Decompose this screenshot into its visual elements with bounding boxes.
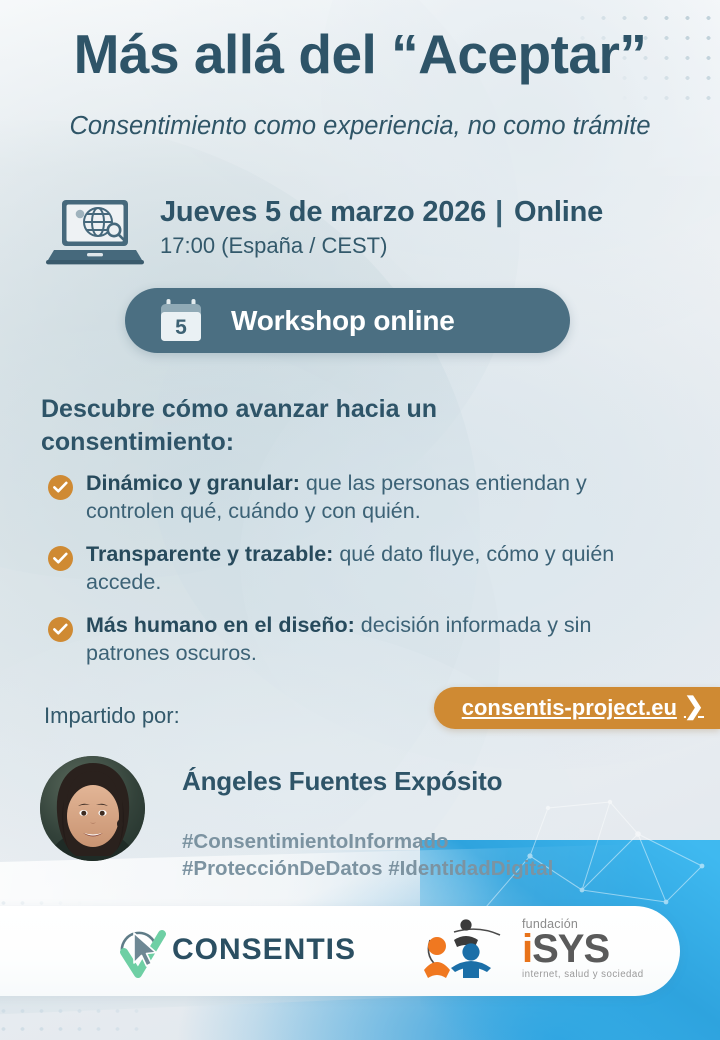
page-title: Más allá del “Aceptar” [0,22,720,86]
event-time: 17:00 (España / CEST) [160,233,603,259]
check-circle-icon [48,617,73,642]
poster-root: Más allá del “Aceptar” Consentimiento co… [0,0,720,1040]
event-date: Jueves 5 de marzo 2026 [160,196,486,228]
logo-isys: fundación iSYS internet, salud y socieda… [420,918,644,980]
list-item-text: Más humano en el diseño: decisión inform… [86,612,674,667]
logo-isys-main: iSYS [522,930,644,968]
workshop-pill[interactable]: 5 Workshop online [125,288,570,353]
pill-label: Workshop online [231,305,455,337]
logo-isys-i: i [522,927,532,971]
list-item-text: Transparente y trazable: qué dato fluye,… [86,541,674,596]
calendar-icon: 5 [157,297,205,345]
list-item: Más humano en el diseño: decisión inform… [48,612,674,667]
list-item-bold: Transparente y trazable: [86,542,333,566]
list-item: Transparente y trazable: qué dato fluye,… [48,541,674,596]
avatar [40,756,145,861]
section-lead: Descubre cómo avanzar hacia un consentim… [41,393,511,459]
website-url: consentis-project.eu [462,695,677,721]
logo-consentis: CONSENTIS [112,922,356,978]
three-people-circle-icon [420,918,518,980]
event-date-line: Jueves 5 de marzo 2026|Online [160,196,603,229]
logo-isys-rest: SYS [532,927,609,971]
speaker-name: Ángeles Fuentes Expósito [182,766,502,797]
calendar-day-number: 5 [175,316,187,339]
benefits-list: Dinámico y granular: que las personas en… [48,470,674,683]
hashtags-line-2: #ProtecciónDeDatos #IdentidadDigital [182,855,553,882]
list-item: Dinámico y granular: que las personas en… [48,470,674,525]
event-date-row: Jueves 5 de marzo 2026|Online 17:00 (Esp… [44,190,603,272]
event-mode: Online [512,196,603,228]
list-item-bold: Dinámico y granular: [86,471,300,495]
chevron-right-icon: ❯ [684,695,704,719]
cursor-check-icon [112,922,168,978]
laptop-globe-search-icon [44,192,146,272]
check-circle-icon [48,546,73,571]
logo-isys-sub: internet, salud y sociedad [522,970,644,980]
logo-consentis-text: CONSENTIS [172,933,356,967]
list-item-text: Dinámico y granular: que las personas en… [86,470,674,525]
check-circle-icon [48,475,73,500]
hashtags: #ConsentimientoInformado #ProtecciónDeDa… [182,828,553,882]
list-item-bold: Más humano en el diseño: [86,613,355,637]
page-subtitle: Consentimiento como experiencia, no como… [0,112,720,141]
hashtags-line-1: #ConsentimientoInformado [182,828,553,855]
event-separator: | [486,196,512,228]
speaker-intro-label: Impartido por: [44,703,180,729]
website-cta-button[interactable]: consentis-project.eu ❯ [434,687,720,729]
